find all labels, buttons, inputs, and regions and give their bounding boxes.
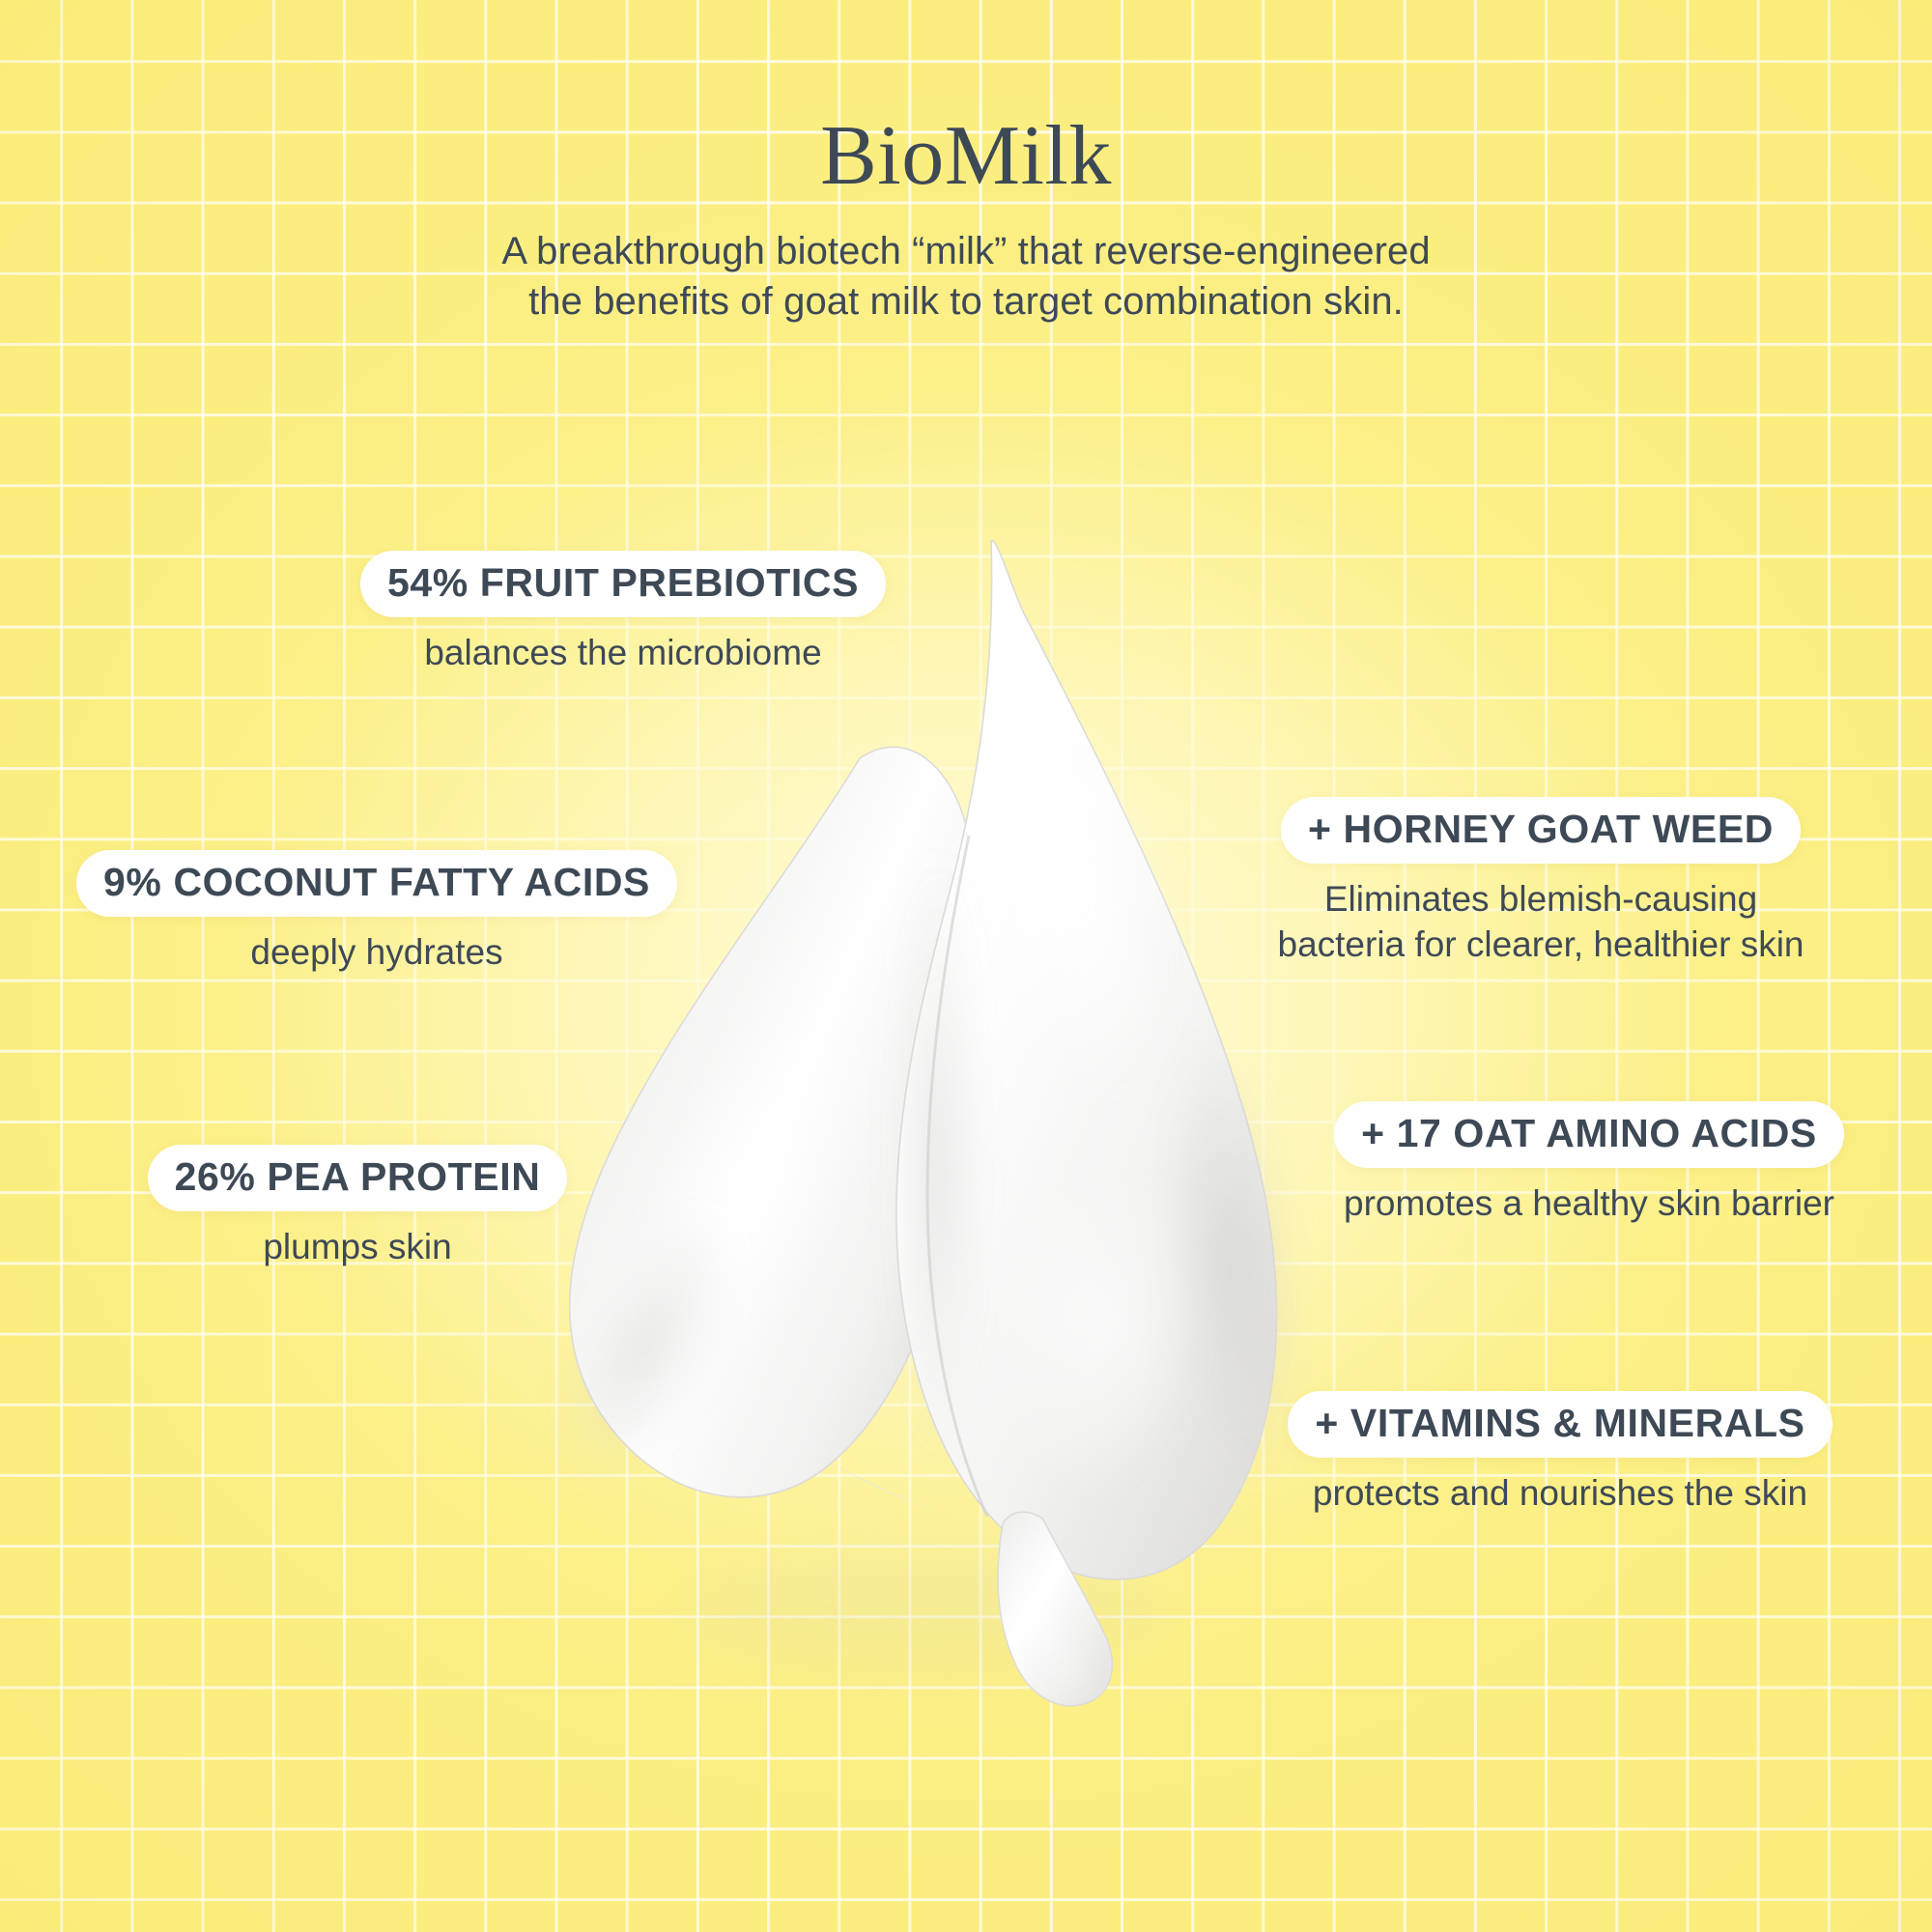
milk-leaf-droplet-icon bbox=[541, 497, 1314, 1773]
benefit-text-oat-amino-acids: promotes a healthy skin barrier bbox=[1270, 1181, 1908, 1227]
page-title: BioMilk bbox=[0, 0, 1932, 199]
header: BioMilk A breakthrough biotech “milk” th… bbox=[0, 0, 1932, 327]
benefit-text-horney-goat-weed: Eliminates blemish-causing bacteria for … bbox=[1203, 877, 1879, 968]
annotation-pea-protein: 26% PEA PROTEIN plumps skin bbox=[97, 1145, 618, 1270]
subtitle-line-1: A breakthrough biotech “milk” that rever… bbox=[0, 226, 1932, 276]
leaf-shadow-center bbox=[891, 845, 983, 1483]
benefit-text-vitamins-minerals: protects and nourishes the skin bbox=[1222, 1471, 1898, 1517]
status-badge-pea-protein: 26% PEA PROTEIN bbox=[148, 1145, 568, 1211]
annotation-fruit-prebiotics: 54% FRUIT PREBIOTICS balances the microb… bbox=[333, 551, 913, 676]
page-subtitle: A breakthrough biotech “milk” that rever… bbox=[0, 199, 1932, 327]
annotation-coconut-fatty-acids: 9% COCONUT FATTY ACIDS deeply hydrates bbox=[58, 850, 696, 976]
status-badge-vitamins-minerals: + VITAMINS & MINERALS bbox=[1288, 1391, 1832, 1458]
biomilk-infographic: BioMilk A breakthrough biotech “milk” th… bbox=[0, 0, 1932, 1932]
status-badge-horney-goat-weed: + HORNEY GOAT WEED bbox=[1281, 797, 1801, 864]
benefit-text-pea-protein: plumps skin bbox=[97, 1225, 618, 1270]
status-badge-oat-amino-acids: + 17 OAT AMINO ACIDS bbox=[1334, 1101, 1844, 1168]
annotation-horney-goat-weed: + HORNEY GOAT WEED Eliminates blemish-ca… bbox=[1203, 797, 1879, 968]
benefit-text-coconut-fatty-acids: deeply hydrates bbox=[58, 930, 696, 976]
status-badge-coconut-fatty-acids: 9% COCONUT FATTY ACIDS bbox=[76, 850, 677, 917]
status-badge-fruit-prebiotics: 54% FRUIT PREBIOTICS bbox=[360, 551, 886, 617]
annotation-vitamins-minerals: + VITAMINS & MINERALS protects and nouri… bbox=[1222, 1391, 1898, 1517]
benefit-text-fruit-prebiotics: balances the microbiome bbox=[333, 631, 913, 676]
annotation-oat-amino-acids: + 17 OAT AMINO ACIDS promotes a healthy … bbox=[1270, 1101, 1908, 1227]
subtitle-line-2: the benefits of goat milk to target comb… bbox=[0, 276, 1932, 327]
